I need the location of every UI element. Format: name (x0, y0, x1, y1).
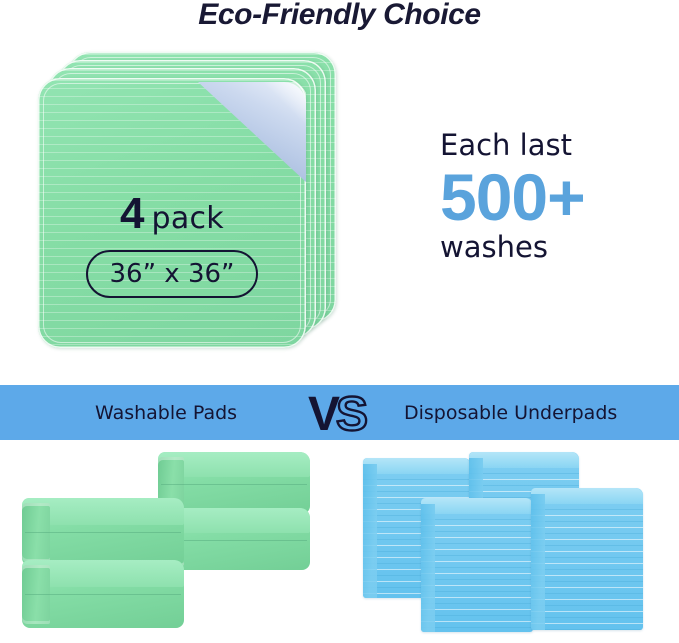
underpad-stack-item (421, 498, 533, 632)
vs-icon: V S (308, 387, 388, 439)
fold-crease (161, 484, 307, 485)
underpad-stack-top (363, 458, 471, 474)
pack-count-line: 4 pack (38, 192, 306, 236)
underpad-stack-side (421, 504, 435, 632)
size-badge: 36” x 36” (86, 250, 258, 298)
underpad-stack-side (363, 464, 377, 598)
underpad-stack-item (531, 488, 643, 630)
versus-right-label: Disposable Underpads (404, 385, 617, 440)
claim-wash-count: 500+ (440, 164, 670, 230)
versus-banner: Washable Pads V S Disposable Underpads (0, 385, 679, 440)
underpad-stack-side (531, 494, 545, 630)
fold-crease (25, 594, 181, 595)
size-badge-label: 36” x 36” (109, 261, 234, 287)
durability-claim-block: Each last 500+ washes (440, 130, 670, 263)
pack-count-number: 4 (120, 192, 143, 236)
hero-section: 4 pack 36” x 36” Each last 500+ washes (0, 42, 679, 382)
pack-count-word: pack (151, 204, 224, 234)
claim-bottom-text: washes (440, 232, 670, 262)
underpad-stack-top (469, 452, 579, 468)
page-title: Eco-Friendly Choice (0, 0, 679, 32)
versus-left-label: Washable Pads (95, 385, 237, 440)
folded-pad-item (22, 498, 184, 566)
underpad-stack-top (421, 498, 533, 514)
fold-crease (25, 532, 181, 533)
svg-text:S: S (336, 388, 368, 439)
pad-stack-graphic: 4 pack 36” x 36” (38, 52, 338, 362)
comparison-products-row (0, 440, 679, 643)
underpad-layer-lines (531, 503, 643, 630)
folded-pad-item (22, 560, 184, 628)
underpad-stack-top (531, 488, 643, 504)
washable-pads-photo (0, 440, 340, 643)
pad-label-block: 4 pack 36” x 36” (38, 192, 306, 298)
claim-top-text: Each last (440, 130, 670, 160)
underpad-layer-lines (421, 513, 533, 632)
disposable-underpads-photo (339, 440, 679, 643)
